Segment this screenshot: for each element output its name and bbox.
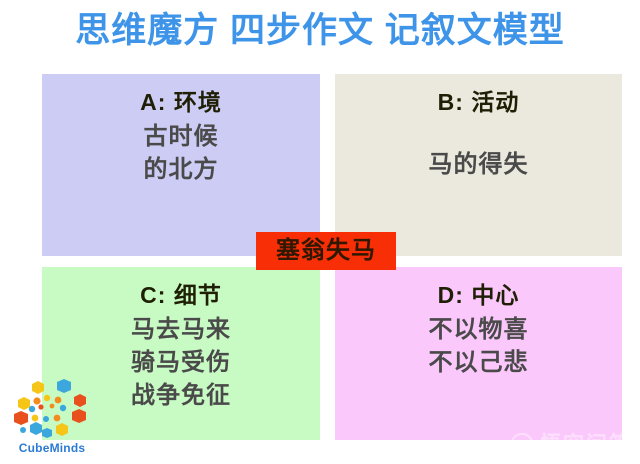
center-badge-label: 塞翁失马 <box>276 232 376 270</box>
quadrant-b-lines: 马的得失 <box>335 148 622 181</box>
quadrant-c-line-2: 骑马受伤 <box>42 346 320 379</box>
page-title: 思维魔方 四步作文 记叙文模型 <box>0 6 640 56</box>
quadrant-d-heading: D: 中心 <box>335 279 622 311</box>
slide-canvas: 思维魔方 四步作文 记叙文模型 A: 环境 古时候 的北方 B: 活动 马的得失… <box>0 0 640 464</box>
quadrant-c-heading: C: 细节 <box>42 279 320 311</box>
quadrant-d-line-1: 不以物喜 <box>335 313 622 346</box>
quadrant-a-line-2: 的北方 <box>42 153 320 186</box>
brand-logo: CubeMinds <box>4 378 100 460</box>
quadrant-b: B: 活动 马的得失 <box>335 74 622 256</box>
hexagon-swirl-icon <box>10 378 94 440</box>
center-badge: 塞翁失马 <box>256 232 396 270</box>
watermark: 悟空问答 <box>509 431 632 458</box>
quadrant-a: A: 环境 古时候 的北方 <box>42 74 320 256</box>
quadrant-a-line-1: 古时候 <box>42 120 320 153</box>
quadrant-d: D: 中心 不以物喜 不以己悲 <box>335 267 622 440</box>
quadrant-d-line-2: 不以己悲 <box>335 346 622 379</box>
quadrant-a-lines: 古时候 的北方 <box>42 120 320 186</box>
watermark-text: 悟空问答 <box>540 432 632 458</box>
quadrant-a-heading: A: 环境 <box>42 86 320 118</box>
quadrant-b-heading: B: 活动 <box>335 86 622 118</box>
quadrant-c-line-1: 马去马来 <box>42 313 320 346</box>
brand-name: CubeMinds <box>4 440 100 456</box>
wukong-mascot-icon <box>509 431 535 458</box>
quadrant-d-lines: 不以物喜 不以己悲 <box>335 313 622 379</box>
quadrant-b-line-1: 马的得失 <box>335 148 622 181</box>
